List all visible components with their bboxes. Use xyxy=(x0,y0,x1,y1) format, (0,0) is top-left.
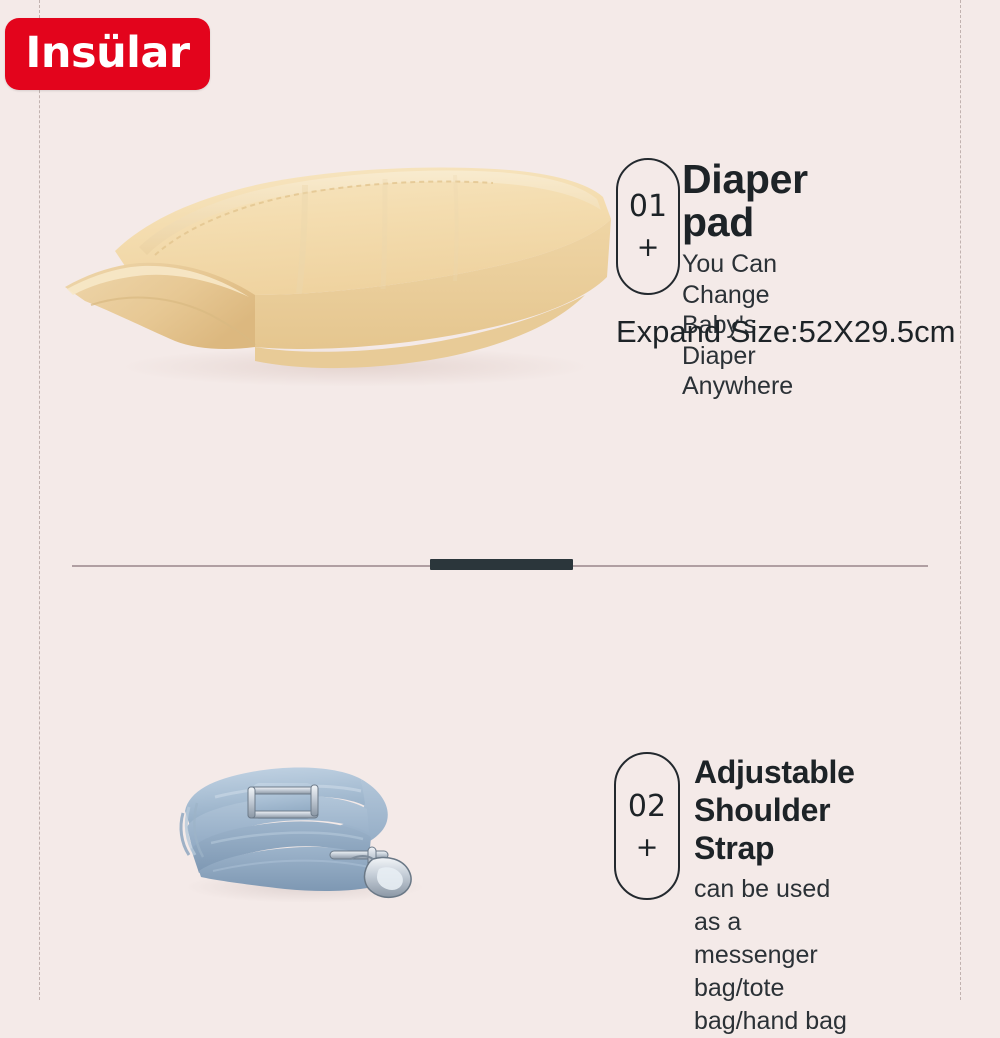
section-02-number: 02 xyxy=(628,792,666,822)
section-02-title: Adjustable Shoulder Strap xyxy=(694,754,855,867)
section-01-title: Diaper pad xyxy=(682,158,808,243)
folded-diaper-pad-photo xyxy=(55,155,625,390)
right-dashed-border xyxy=(960,0,961,1000)
section-divider-accent xyxy=(430,559,573,570)
section-01-expand-size: Expand Size:52X29.5cm xyxy=(616,316,956,347)
section-01-headings: Diaper pad You Can Change Baby's Diaper … xyxy=(682,158,808,402)
section-02-subtitle: can be used as a messenger bag/tote bag/… xyxy=(694,873,855,1038)
strap-slider-buckle xyxy=(248,783,318,819)
section-01-number: 01 xyxy=(629,192,667,222)
brand-logo: Insülar xyxy=(5,18,210,90)
blue-shoulder-strap-photo xyxy=(155,755,455,910)
section-01-number-badge: 01 + xyxy=(616,158,680,295)
brand-logo-text: Insülar xyxy=(25,32,189,75)
infographic-page: Insülar xyxy=(0,0,1000,1000)
section-02-headings: Adjustable Shoulder Strap can be used as… xyxy=(694,754,855,1038)
section-02-number-badge: 02 + xyxy=(614,752,680,900)
section-02-plus-icon: + xyxy=(636,834,659,861)
left-dashed-border xyxy=(39,0,40,1000)
section-01-plus-icon: + xyxy=(637,234,660,261)
